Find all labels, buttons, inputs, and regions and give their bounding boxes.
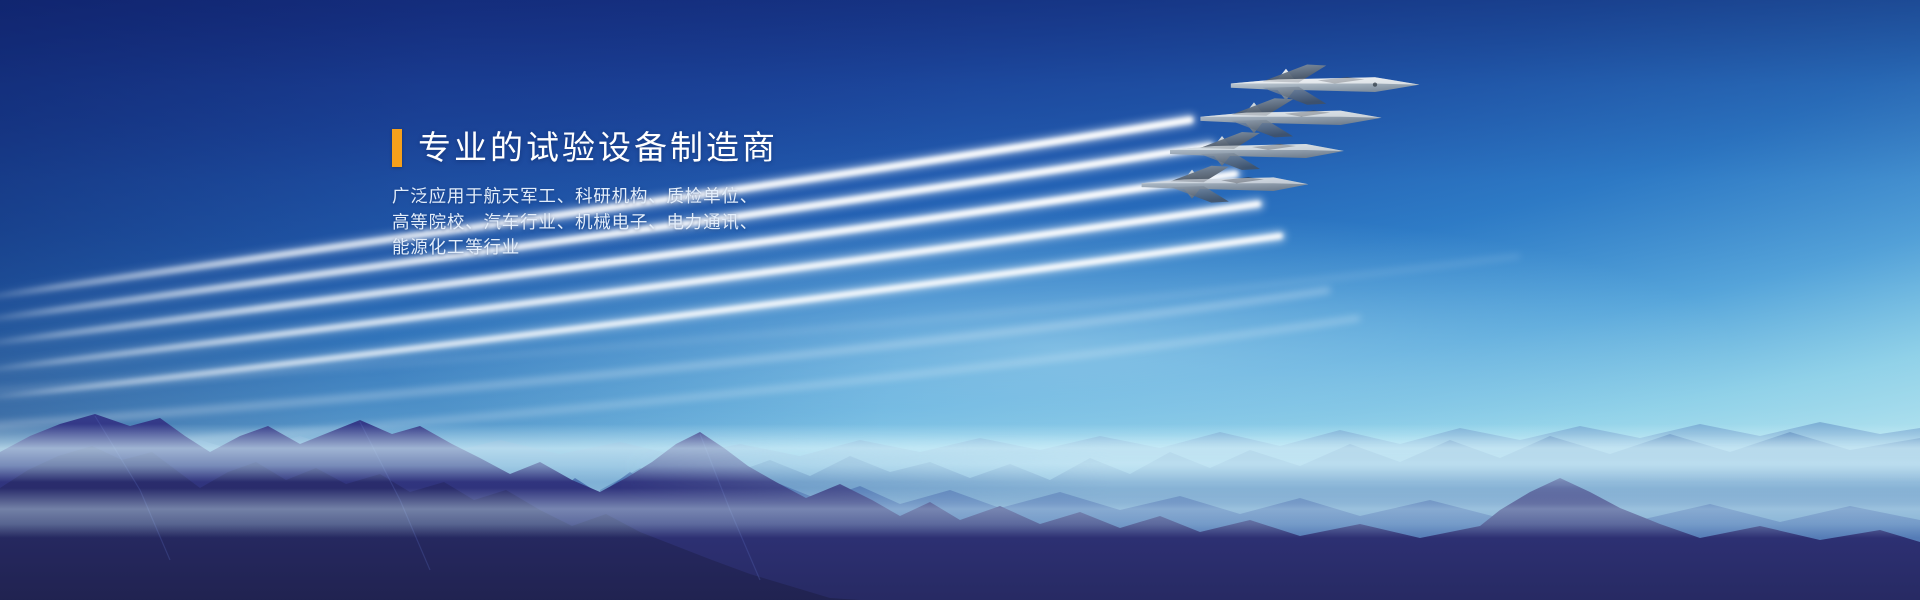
jet-2 [1200,98,1381,137]
mountain-range [0,340,1920,600]
hero-banner: 专业的试验设备制造商 广泛应用于航天军工、科研机构、质检单位、 高等院校、汽车行… [0,0,1920,600]
banner-copy-block: 专业的试验设备制造商 广泛应用于航天军工、科研机构、质检单位、 高等院校、汽车行… [392,128,1112,261]
banner-subtitle: 广泛应用于航天军工、科研机构、质检单位、 高等院校、汽车行业、机械电子、电力通讯… [392,184,1112,261]
accent-bar-icon [392,129,402,167]
jet-4-rear [1142,166,1309,203]
jet-formation [1120,40,1520,280]
page-title: 专业的试验设备制造商 [418,128,778,168]
subtitle-line-2: 高等院校、汽车行业、机械电子、电力通讯、 [392,210,1112,236]
headline-row: 专业的试验设备制造商 [392,128,1112,168]
jet-3 [1170,132,1344,170]
subtitle-line-3: 能源化工等行业 [392,235,1112,261]
jet-1-lead [1231,64,1420,104]
subtitle-line-1: 广泛应用于航天军工、科研机构、质检单位、 [392,184,1112,210]
